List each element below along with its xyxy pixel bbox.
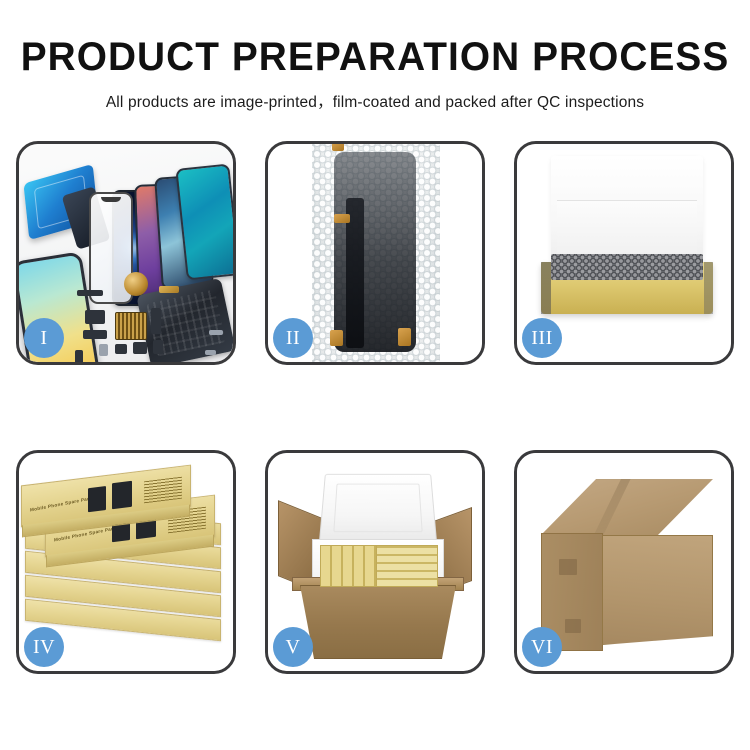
carton-front-panel	[300, 585, 456, 659]
spare-part-screw-1	[209, 330, 223, 335]
panel-parts-overview[interactable]: I	[16, 141, 236, 365]
spare-part-bracket-1	[85, 310, 105, 324]
foam-box-lid-open	[319, 474, 437, 544]
tape-piece-top	[332, 144, 344, 151]
kraft-boxes-inside-stack	[376, 545, 438, 587]
spare-part-sim-tray	[75, 350, 83, 362]
tape-piece-bottom-right	[398, 328, 411, 346]
panel-bubble-wrapped[interactable]: II	[265, 141, 485, 365]
spare-part-strip-1	[77, 290, 103, 296]
kraft-box-printed-top: Mobile Phone Spare Parts	[21, 465, 191, 528]
spare-part-button	[99, 344, 108, 356]
spare-part-flex-1	[83, 330, 107, 339]
box-print-label-top: Mobile Phone Spare Parts	[30, 495, 94, 512]
box-art-thumb-1-top	[88, 486, 106, 512]
step-badge-3: III	[522, 318, 562, 358]
speaker-module-icon	[124, 272, 148, 296]
step-badge-1: I	[24, 318, 64, 358]
panel-boxed-stack[interactable]: Mobile Phone Spare Parts Mobile Phone Sp…	[16, 450, 236, 674]
page-title: PRODUCT PREPARATION PROCESS	[11, 36, 739, 78]
product-preparation-process-page: PRODUCT PREPARATION PROCESS All products…	[0, 0, 750, 750]
spare-part-bracket-2	[115, 344, 127, 354]
panel-carton-packed[interactable]: V	[265, 450, 485, 674]
step-badge-6: VI	[522, 627, 562, 667]
spare-part-gold-flex	[159, 286, 179, 293]
carton-right-face	[602, 535, 713, 645]
carton-tape-lower	[565, 619, 581, 633]
panel-foam-box[interactable]: III	[514, 141, 734, 365]
page-subtitle: All products are image-printed，film-coat…	[0, 90, 750, 112]
step-badge-2: II	[273, 318, 313, 358]
spare-part-camera	[133, 342, 147, 354]
carton-tape-upper	[559, 559, 577, 575]
bubble-wrap-bag	[312, 144, 440, 362]
box-spec-lines-top	[144, 477, 182, 504]
tape-piece-bottom-left	[330, 330, 343, 346]
process-steps-grid: I II	[16, 141, 734, 674]
spare-part-sensor	[153, 340, 163, 354]
grey-bubble-wrap-layer	[551, 254, 703, 280]
page-header: PRODUCT PREPARATION PROCESS All products…	[0, 36, 750, 112]
box-art-thumb-2-top	[112, 481, 132, 509]
spare-part-flex-2	[151, 308, 161, 334]
connector-array-chip	[115, 312, 147, 340]
spare-part-screw-2	[205, 350, 216, 355]
tape-piece-middle	[334, 214, 350, 223]
step-badge-5: V	[273, 627, 313, 667]
step-badge-4: IV	[24, 627, 64, 667]
panel-sealed-carton[interactable]: VI	[514, 450, 734, 674]
